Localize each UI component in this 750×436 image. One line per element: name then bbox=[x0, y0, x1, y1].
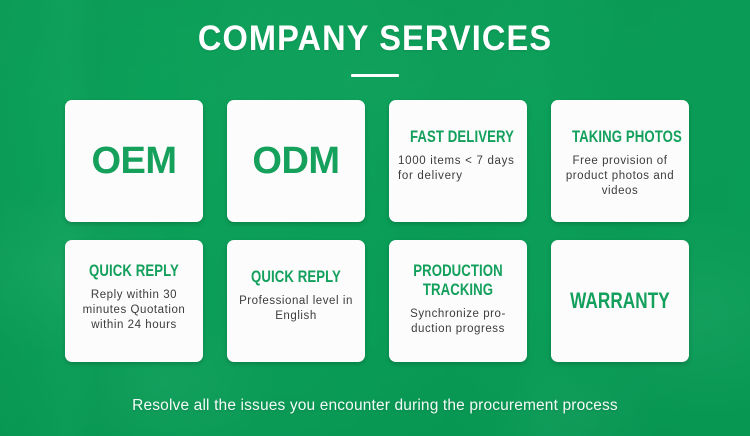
service-heading: FAST DELIVERY bbox=[410, 128, 506, 147]
service-card-quick-reply-response-time[interactable]: QUICK REPLY Reply within 30 minutes Quot… bbox=[65, 240, 203, 362]
footer-tagline: Resolve all the issues you encounter dur… bbox=[0, 396, 750, 416]
service-headline: ODM bbox=[252, 140, 339, 182]
company-services-banner: COMPANY SERVICES OEM ODM FAST DELIVERY 1… bbox=[0, 0, 750, 436]
service-heading: QUICK REPLY bbox=[86, 262, 182, 281]
service-card-production-tracking[interactable]: PRODUCTION TRACKING Synchronize pro-duct… bbox=[389, 240, 527, 362]
title-divider bbox=[351, 74, 399, 77]
service-heading: TAKING PHOTOS bbox=[572, 128, 668, 147]
service-headline: OEM bbox=[91, 140, 176, 182]
service-card-oem[interactable]: OEM bbox=[65, 100, 203, 222]
service-body: Synchronize pro-duction progress bbox=[398, 307, 518, 337]
service-body: Professional level in English bbox=[236, 294, 356, 324]
service-card-fast-delivery[interactable]: FAST DELIVERY 1000 items < 7 days for de… bbox=[389, 100, 527, 222]
service-heading: WARRANTY bbox=[570, 288, 670, 314]
service-heading: PRODUCTION TRACKING bbox=[410, 262, 506, 300]
service-card-warranty[interactable]: WARRANTY bbox=[551, 240, 689, 362]
service-card-taking-photos[interactable]: TAKING PHOTOS Free provision of product … bbox=[551, 100, 689, 222]
service-body: Reply within 30 minutes Quotation within… bbox=[74, 288, 194, 333]
service-body: Free provision of product photos and vid… bbox=[560, 154, 680, 199]
service-heading: QUICK REPLY bbox=[248, 268, 344, 287]
services-card-grid: OEM ODM FAST DELIVERY 1000 items < 7 day… bbox=[65, 100, 689, 362]
service-card-quick-reply-english[interactable]: QUICK REPLY Professional level in Englis… bbox=[227, 240, 365, 362]
service-card-odm[interactable]: ODM bbox=[227, 100, 365, 222]
service-body: 1000 items < 7 days for delivery bbox=[398, 154, 518, 184]
page-title: COMPANY SERVICES bbox=[26, 19, 724, 59]
